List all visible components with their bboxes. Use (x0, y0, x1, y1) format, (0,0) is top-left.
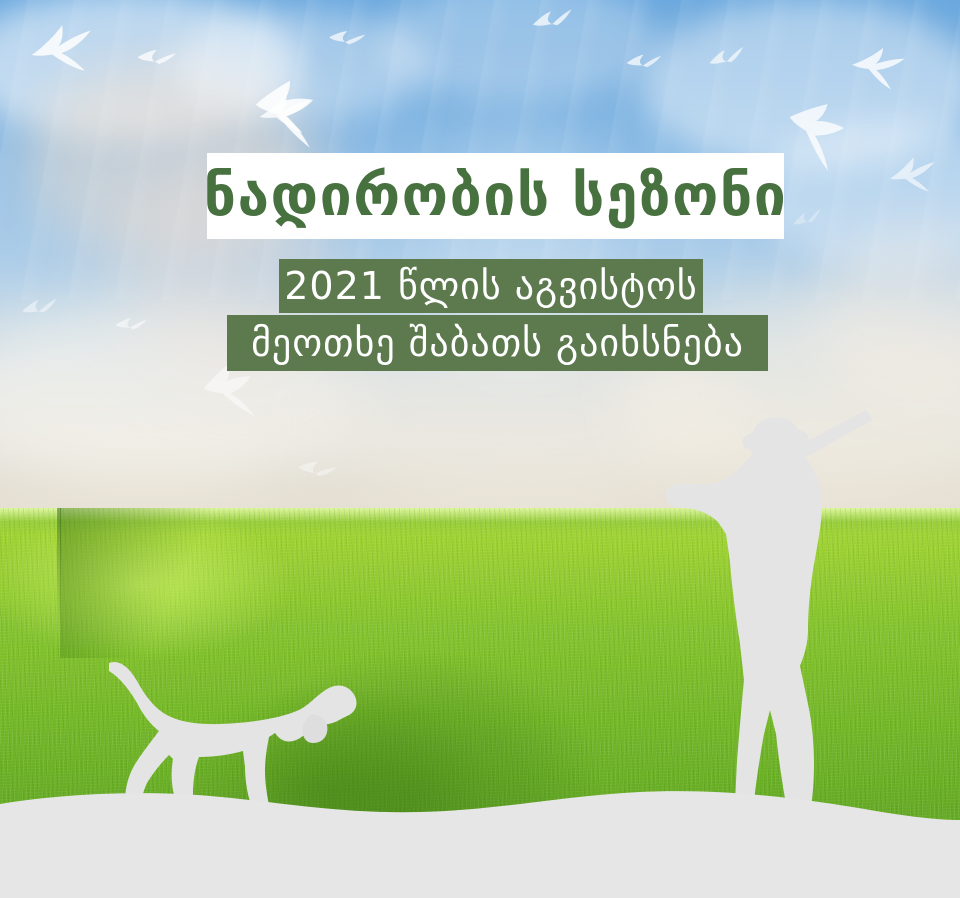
subtitle-line-one: 2021 წლის აგვისტოს (284, 267, 697, 305)
subtitle-bar-one: 2021 წლის აგვისტოს (279, 259, 703, 313)
subtitle-line-two: მეოთხე შაბათს გაიხსნება (251, 324, 744, 362)
sky-streaks (0, 0, 960, 300)
field-seam-shadow (60, 508, 240, 658)
subtitle-bar-two: მეოთხე შაბათს გაიხსნება (227, 315, 768, 371)
title-banner: ნადირობის სეზონი (207, 153, 784, 239)
foreground-bank (0, 768, 960, 898)
poster-canvas: ნადირობის სეზონი 2021 წლის აგვისტოს მეოთ… (0, 0, 960, 898)
page-title: ნადირობის სეზონი (204, 168, 788, 225)
field-seam-edge (57, 508, 61, 628)
